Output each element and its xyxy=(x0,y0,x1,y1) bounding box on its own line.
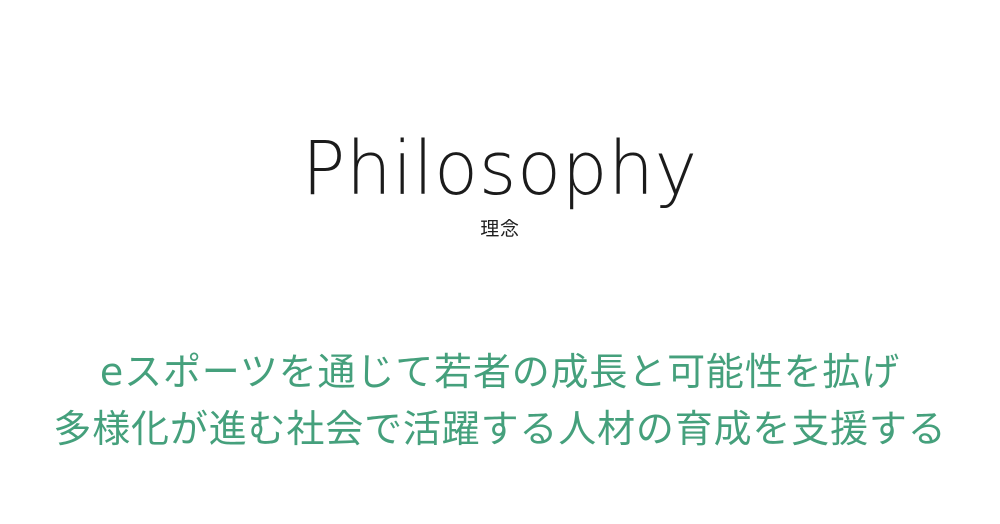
philosophy-section: Philosophy 理念 eスポーツを通じて若者の成長と可能性を拡げ 多様化が… xyxy=(0,0,1000,524)
page-subtitle: 理念 xyxy=(0,219,1000,240)
section-title-container: Philosophy xyxy=(0,132,1000,206)
page-title: Philosophy xyxy=(15,132,985,206)
statement-line-1: eスポーツを通じて若者の成長と可能性を拡げ xyxy=(0,344,1000,401)
philosophy-statement: eスポーツを通じて若者の成長と可能性を拡げ 多様化が進む社会で活躍する人材の育成… xyxy=(0,344,1000,458)
section-subtitle-container: 理念 xyxy=(0,219,1000,240)
statement-line-2: 多様化が進む社会で活躍する人材の育成を支援する xyxy=(0,401,1000,458)
